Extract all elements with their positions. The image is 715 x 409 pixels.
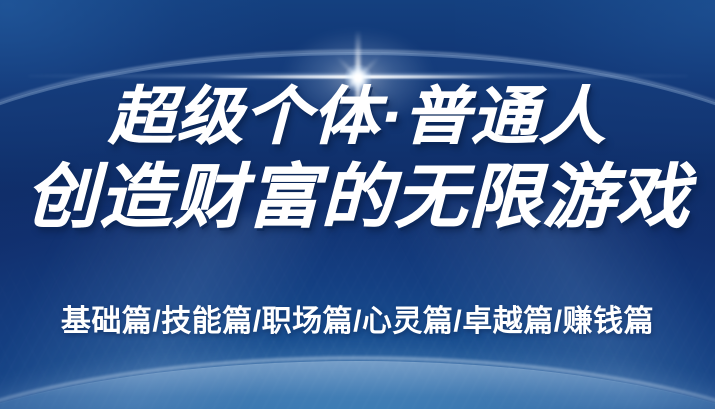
headline-block: 超级个体·普通人 创造财富的无限游戏 <box>0 86 715 232</box>
subtitle: 基础篇/技能篇/职场篇/心灵篇/卓越篇/赚钱篇 <box>0 296 715 340</box>
promo-banner: 超级个体·普通人 创造财富的无限游戏 基础篇/技能篇/职场篇/心灵篇/卓越篇/赚… <box>0 0 715 409</box>
headline-line-2: 创造财富的无限游戏 <box>0 162 715 232</box>
headline-line-1: 超级个体·普通人 <box>0 86 715 149</box>
